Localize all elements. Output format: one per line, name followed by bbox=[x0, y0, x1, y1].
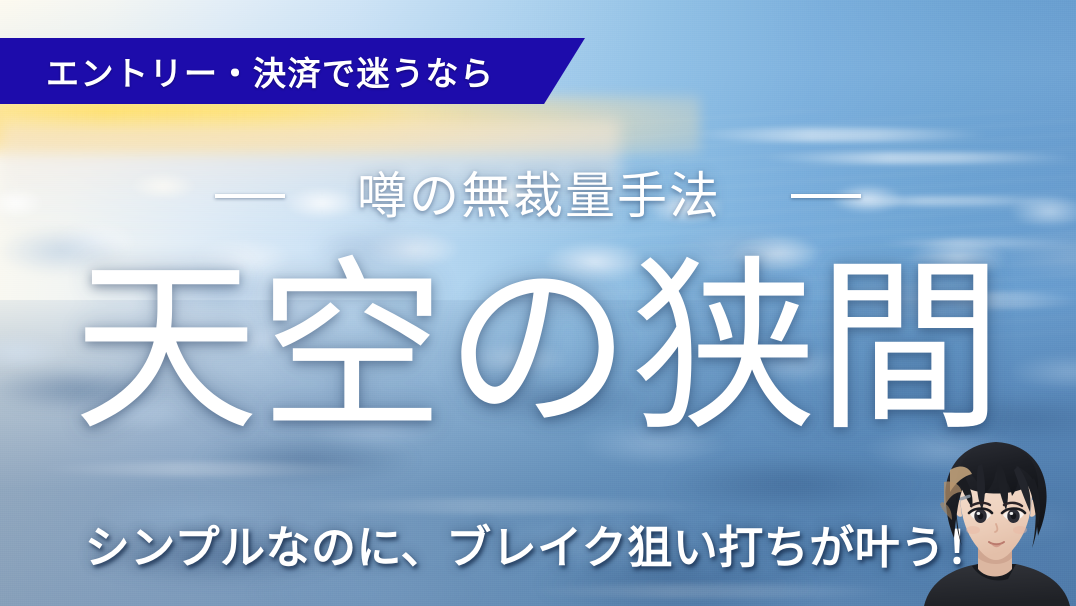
subtitle-right-rule-icon bbox=[791, 194, 861, 198]
cloud-wisp bbox=[520, 584, 900, 598]
character-portrait bbox=[916, 430, 1076, 606]
bottom-caption: シンプルなのに、ブレイク狙い打ちが叶う！ bbox=[0, 512, 1076, 574]
subtitle-left-rule-icon bbox=[215, 194, 285, 198]
cloud-wisp bbox=[40, 462, 380, 476]
subtitle-row: 噂の無裁量手法 bbox=[0, 163, 1076, 229]
anime-boy-illustration bbox=[916, 430, 1076, 606]
ribbon-label: エントリー・決済で迷うなら bbox=[46, 45, 566, 97]
character-blush-left bbox=[966, 526, 980, 534]
page-title: 天空の狭間 bbox=[0, 250, 1076, 450]
thumbnail-canvas: エントリー・決済で迷うなら 噂の無裁量手法 天空の狭間 シンプルなのに、ブレイク… bbox=[0, 0, 1076, 606]
subtitle-text: 噂の無裁量手法 bbox=[357, 171, 721, 221]
character-blush-right bbox=[1013, 526, 1027, 534]
cloud-wisp bbox=[690, 128, 990, 142]
